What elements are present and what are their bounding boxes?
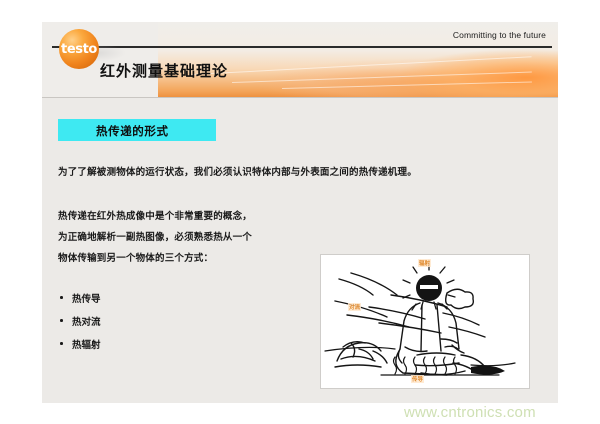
site-watermark: www.cntronics.com <box>404 404 536 421</box>
illustration-label-conduction: 传导 <box>411 375 424 383</box>
illustration-label-radiation: 辐射 <box>418 259 431 267</box>
slide-page: testo Committing to the future 红外测量基础理论 … <box>0 0 600 424</box>
section-heading-chip: 热传递的形式 <box>58 119 216 141</box>
paragraph-body-line-3: 物体传输到另一个物体的三个方式： <box>58 250 213 264</box>
presentation-slide: testo Committing to the future 红外测量基础理论 … <box>42 22 558 402</box>
list-item: 热辐射 <box>58 337 101 360</box>
illustration-label-convection: 对流 <box>348 303 361 311</box>
list-item: 热对流 <box>58 314 101 337</box>
slide-header: testo Committing to the future 红外测量基础理论 <box>42 22 558 97</box>
logo-wordmark: testo <box>61 42 111 57</box>
slide-body: 热传递的形式 为了了解被测物体的运行状态，我们必须认识特体内部与外表面之间的热传… <box>42 97 558 403</box>
bullet-list: 热传导 热对流 热辐射 <box>58 291 101 360</box>
paragraph-body-line-2: 为正确地解析一副热图像，必须熟悉热从一个 <box>58 229 252 243</box>
header-slogan: Committing to the future <box>453 30 546 40</box>
heat-transfer-illustration: 辐射 对流 传导 <box>320 254 530 389</box>
heat-transfer-line-drawing <box>321 255 527 386</box>
paragraph-body-line-1: 热传递在红外热成像中是个非常重要的概念， <box>58 208 252 222</box>
testo-logo[interactable]: testo <box>59 29 99 69</box>
list-item: 热传导 <box>58 291 101 314</box>
section-heading-label: 热传递的形式 <box>96 123 169 139</box>
paragraph-intro: 为了了解被测物体的运行状态，我们必须认识特体内部与外表面之间的热传递机理。 <box>58 164 417 178</box>
slide-title: 红外测量基础理论 <box>100 60 228 81</box>
